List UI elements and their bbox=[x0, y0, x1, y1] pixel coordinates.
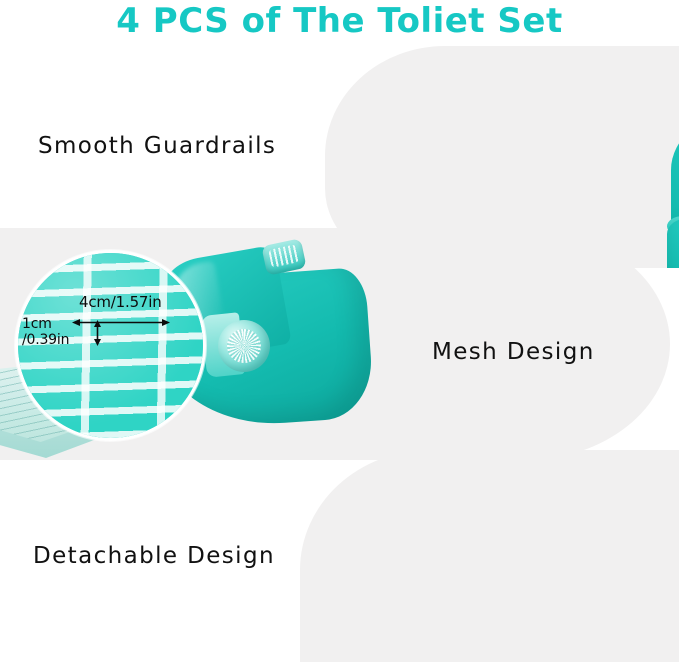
caption-smooth-guardrails: Smooth Guardrails bbox=[38, 133, 276, 159]
vertical-measure-arrow-icon bbox=[93, 320, 102, 346]
side-screw-knob-icon bbox=[218, 320, 270, 372]
caption-mesh-design: Mesh Design bbox=[432, 339, 595, 365]
guardrail-wall-shape bbox=[671, 112, 679, 228]
measurement-label-vertical: 1cm /0.39in bbox=[22, 317, 69, 347]
product-image-corner-litter-box bbox=[663, 98, 679, 268]
measurement-vertical-line1: 1cm bbox=[22, 316, 52, 332]
panel-detachable-design bbox=[300, 450, 679, 662]
page-title: 4 PCS of The Toliet Set bbox=[0, 1, 679, 41]
basin-body-shape bbox=[667, 218, 679, 268]
measurement-label-horizontal: 4cm/1.57in bbox=[79, 295, 162, 311]
top-mounting-screw-knob-icon bbox=[261, 238, 306, 276]
caption-detachable-design: Detachable Design bbox=[33, 543, 275, 569]
horizontal-measure-arrow-icon bbox=[72, 318, 170, 327]
measurement-vertical-line2: /0.39in bbox=[22, 333, 69, 348]
infographic-canvas: 4 PCS of The Toliet Set Smooth Guardrail… bbox=[0, 0, 679, 662]
